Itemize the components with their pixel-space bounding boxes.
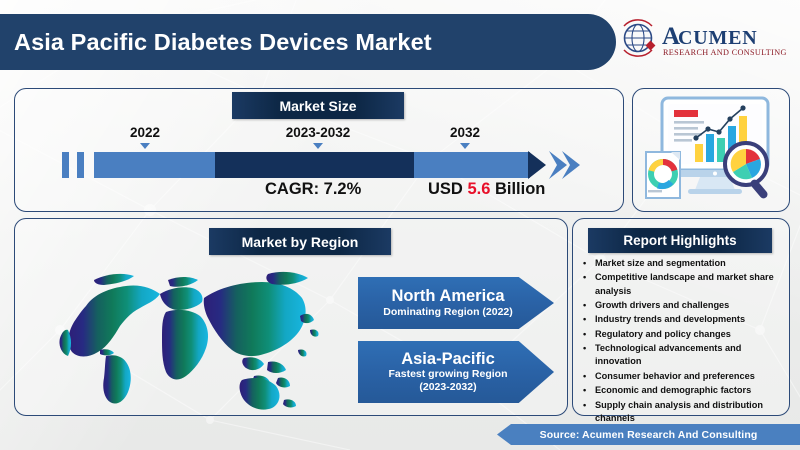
bullet-glyph: • — [583, 342, 586, 355]
list-item: • Growth drivers and challenges — [581, 299, 789, 312]
list-item: • Market size and segmentation — [581, 257, 789, 270]
infographic-canvas: Asia Pacific Diabetes Devices Market A C… — [0, 0, 800, 450]
bullet-glyph: • — [583, 313, 586, 326]
bullet-glyph: • — [583, 370, 586, 383]
world-map — [28, 258, 348, 410]
highlights-list: • Market size and segmentation • Competi… — [581, 257, 789, 441]
list-item: • Economic and demographic factors — [581, 384, 789, 397]
list-item: • Regulatory and policy changes — [581, 328, 789, 341]
region-badge-title: North America — [391, 287, 504, 305]
acumen-logo: A CUMEN RESEARCH AND CONSULTING — [616, 14, 792, 66]
header-bar: Asia Pacific Diabetes Devices Market — [0, 14, 616, 70]
source-text: Source: Acumen Research And Consulting — [540, 429, 758, 441]
timeline-segment-base — [94, 152, 215, 178]
region-badge-asia-pacific[interactable]: Asia-Pacific Fastest growing Region (202… — [358, 341, 554, 403]
region-badge-subtitle: Dominating Region (2022) — [383, 306, 513, 319]
globe-icon — [624, 20, 655, 56]
list-item: • Technological advancements and innovat… — [581, 342, 789, 368]
bullet-glyph: • — [583, 328, 586, 341]
timeline-arrowheads — [528, 150, 580, 180]
pointer-forecast-period — [313, 143, 323, 149]
timeline-tick-2 — [77, 152, 84, 178]
bullet-glyph: • — [583, 399, 586, 412]
bullet-glyph: • — [583, 257, 586, 270]
list-item: • Consumer behavior and preferences — [581, 370, 789, 383]
bullet-glyph: • — [583, 384, 586, 397]
pointer-forecast-year — [460, 143, 470, 149]
region-badge-period: (2023-2032) — [419, 381, 476, 394]
list-item: • Industry trends and developments — [581, 313, 789, 326]
region-badge-subtitle: Fastest growing Region — [388, 368, 507, 381]
label-forecast-year: 2032 — [425, 125, 505, 140]
bullet-glyph: • — [583, 271, 586, 284]
market-value-number: 5.6 — [467, 180, 490, 198]
timeline-tick-1 — [62, 152, 69, 178]
list-item: • Supply chain analysis and distribution… — [581, 399, 789, 425]
bullet-glyph: • — [583, 299, 586, 312]
region-tag: Market by Region — [209, 228, 391, 255]
market-value: USD 5.6 Billion — [428, 180, 545, 199]
pointer-base-year — [140, 143, 150, 149]
highlights-tag: Report Highlights — [588, 228, 772, 253]
label-base-year: 2022 — [105, 125, 185, 140]
source-bar: Source: Acumen Research And Consulting — [497, 424, 800, 445]
timeline-segment-forecast — [215, 152, 414, 178]
region-badge-north-america[interactable]: North America Dominating Region (2022) — [358, 277, 554, 329]
region-badge-title: Asia-Pacific — [401, 350, 495, 368]
label-forecast-period: 2023-2032 — [248, 125, 388, 140]
page-title: Asia Pacific Diabetes Devices Market — [14, 29, 432, 56]
cagr-value: CAGR: 7.2% — [265, 180, 361, 199]
market-analysis-illustration — [640, 92, 782, 206]
market-size-tag: Market Size — [232, 92, 404, 119]
timeline-segment-end — [414, 152, 530, 178]
svg-text:CUMEN: CUMEN — [678, 27, 758, 49]
list-item: • Competitive landscape and market share… — [581, 271, 789, 297]
logo-tagline: RESEARCH AND CONSULTING — [663, 48, 787, 57]
